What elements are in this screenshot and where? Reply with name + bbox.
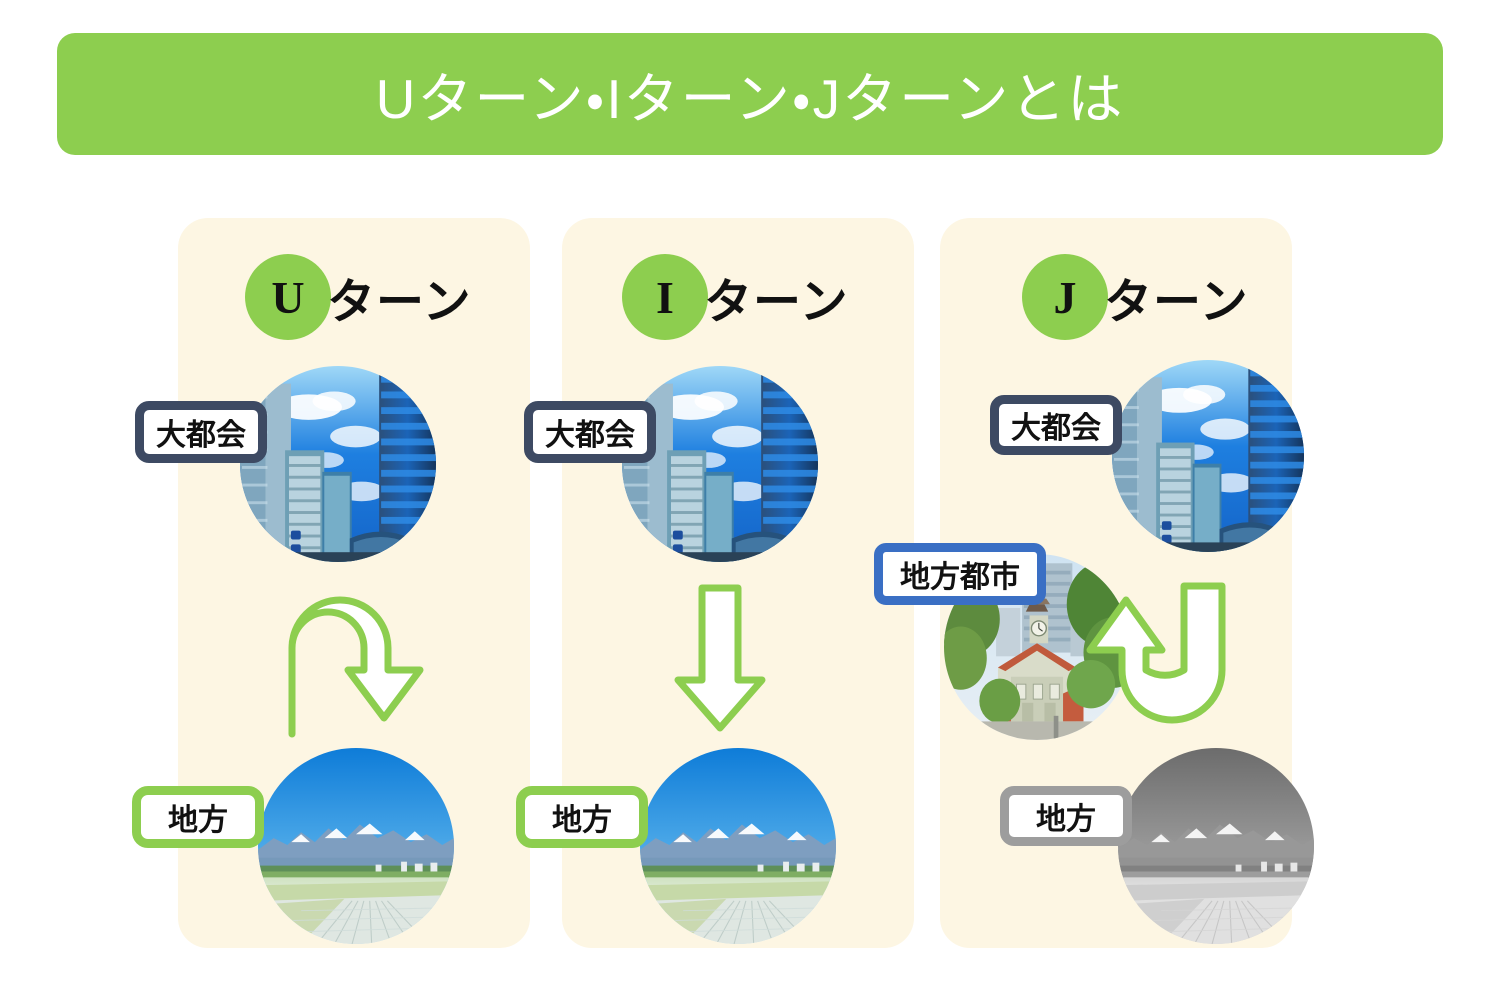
column-header-j-turn: J ターン <box>1022 252 1249 342</box>
photo-city-j <box>1112 360 1304 552</box>
column-header-label-j: ターン <box>1104 262 1249 332</box>
column-letter-circle-j: J <box>1022 254 1108 340</box>
down-arrow-icon <box>672 584 768 734</box>
column-header-label-u: ターン <box>327 262 472 332</box>
badge-city-u: 大都会 <box>135 401 267 463</box>
badge-rural-u: 地方 <box>132 786 264 848</box>
badge-city-j: 大都会 <box>990 395 1122 455</box>
column-letter-circle-u: U <box>245 254 331 340</box>
photo-rural-j <box>1118 748 1314 944</box>
photo-rural-u <box>258 748 454 944</box>
photo-city-u <box>240 366 436 562</box>
infographic-root: Uターン・Iターン・Jターンとは U ターン <box>0 0 1500 981</box>
badge-city-i: 大都会 <box>524 401 656 463</box>
title-banner: Uターン・Iターン・Jターンとは <box>57 33 1443 155</box>
badge-rural-i: 地方 <box>516 786 648 848</box>
column-header-u-turn: U ターン <box>245 252 472 342</box>
badge-rural-j: 地方 <box>1000 786 1132 846</box>
u-turn-arrow-icon <box>280 586 450 736</box>
photo-rural-i <box>640 748 836 944</box>
column-header-label-i: ターン <box>704 262 849 332</box>
j-turn-arrow-icon <box>1080 582 1235 734</box>
column-letter-circle-i: I <box>622 254 708 340</box>
column-header-i-turn: I ターン <box>622 252 849 342</box>
page-title: Uターン・Iターン・Jターンとは <box>376 54 1125 134</box>
photo-city-i <box>622 366 818 562</box>
badge-regional-city-j: 地方都市 <box>874 543 1046 605</box>
